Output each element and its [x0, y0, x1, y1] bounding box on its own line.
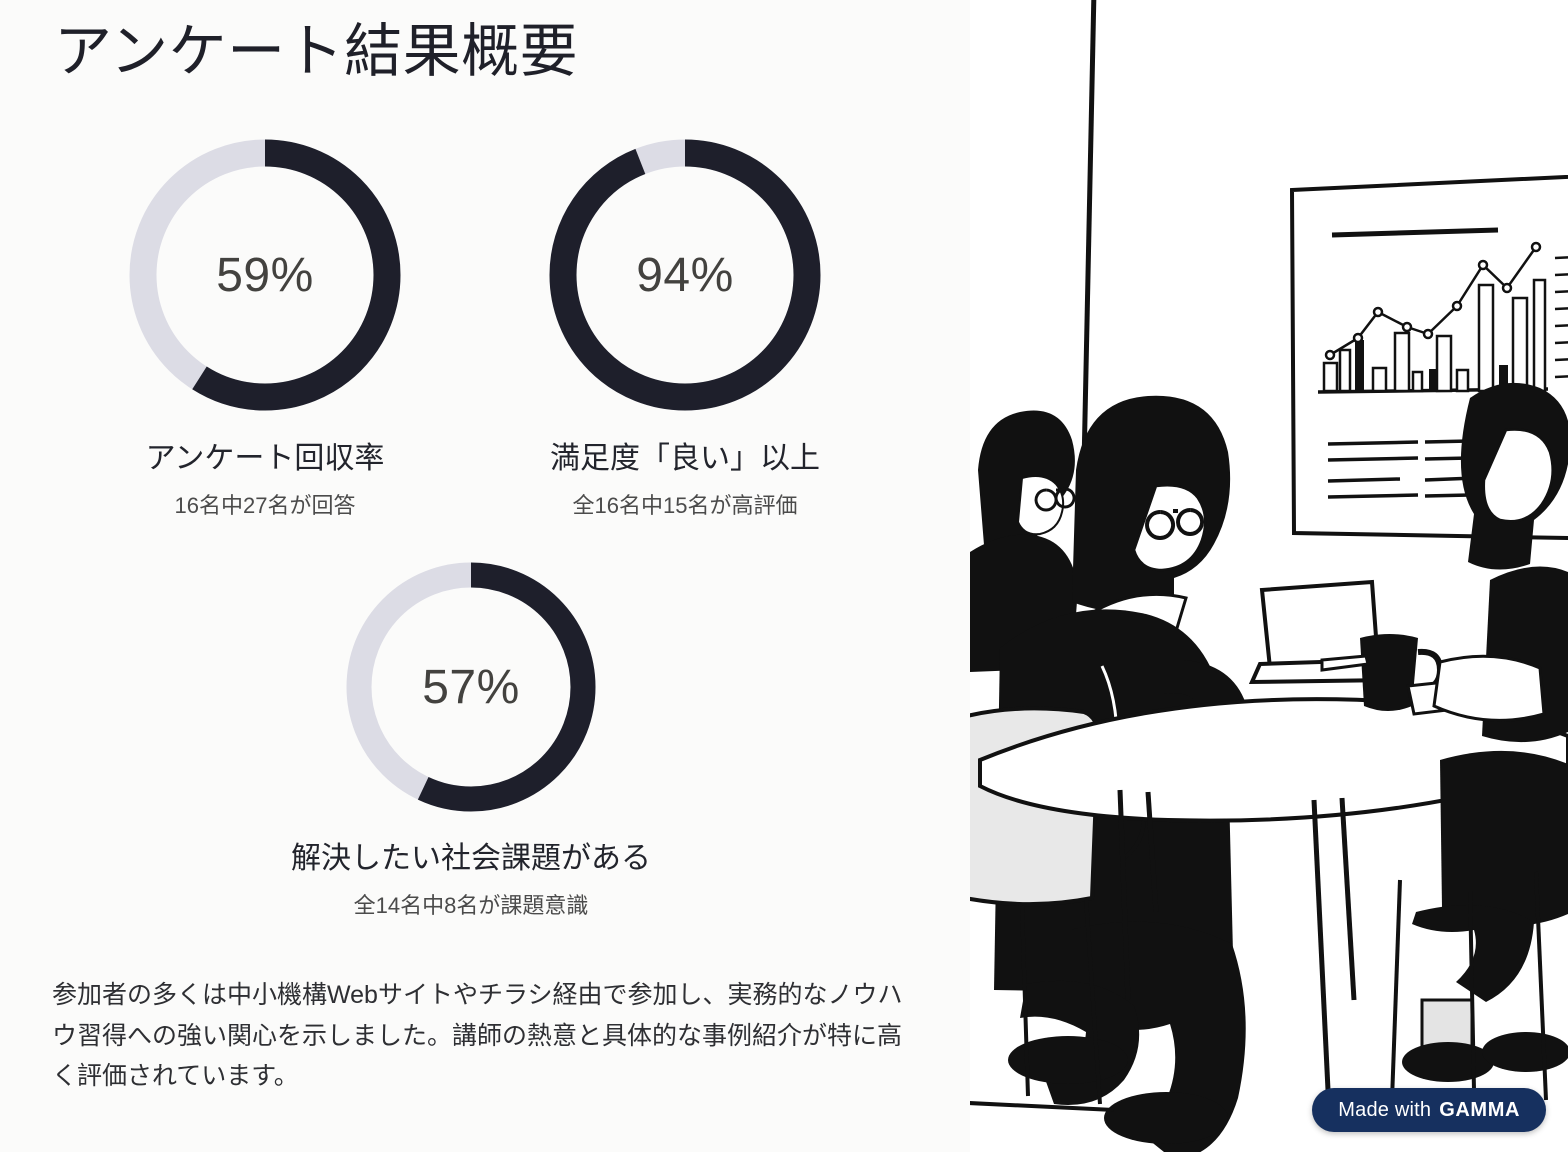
donut-value-label: 94% [542, 132, 828, 418]
badge-brand-label: GAMMA [1439, 1099, 1520, 1122]
donut-value-label: 59% [122, 132, 408, 418]
badge-made-with-label: Made with [1338, 1099, 1431, 1122]
stat-subtitle: 16名中27名が回答 [175, 492, 356, 521]
stat-block-satisfaction-rate: 94% 満足度「良い」以上 全16名中15名が高評価 [542, 132, 828, 520]
donut-chart-satisfaction-rate: 94% [542, 132, 828, 418]
donut-chart-social-issue-awareness: 57% [340, 556, 602, 818]
stat-title: アンケート回収率 [146, 440, 385, 478]
made-with-gamma-badge[interactable]: Made with GAMMA [1312, 1088, 1546, 1132]
slide-root: アンケート結果概要 59% アンケート回収率 16名中27名が回答 94% [0, 0, 1568, 1152]
donut-value-label: 57% [340, 556, 602, 818]
stat-block-social-issue-awareness: 57% 解決したい社会課題がある 全14名中8名が課題意識 [340, 556, 602, 920]
donut-chart-survey-response-rate: 59% [122, 132, 408, 418]
stat-subtitle: 全16名中15名が高評価 [573, 492, 798, 521]
stat-title: 解決したい社会課題がある [291, 840, 651, 878]
business-meeting-illustration [970, 0, 1568, 1152]
stat-title: 満足度「良い」以上 [550, 440, 820, 478]
summary-paragraph: 参加者の多くは中小機構Webサイトやチラシ経由で参加し、実務的なノウハウ習得への… [52, 975, 912, 1097]
stat-subtitle: 全14名中8名が課題意識 [354, 892, 589, 921]
stat-block-survey-response-rate: 59% アンケート回収率 16名中27名が回答 [122, 132, 408, 520]
illustration-panel: Made with GAMMA [970, 0, 1568, 1152]
page-title: アンケート結果概要 [54, 16, 578, 89]
content-panel: アンケート結果概要 59% アンケート回収率 16名中27名が回答 94% [0, 0, 970, 1152]
